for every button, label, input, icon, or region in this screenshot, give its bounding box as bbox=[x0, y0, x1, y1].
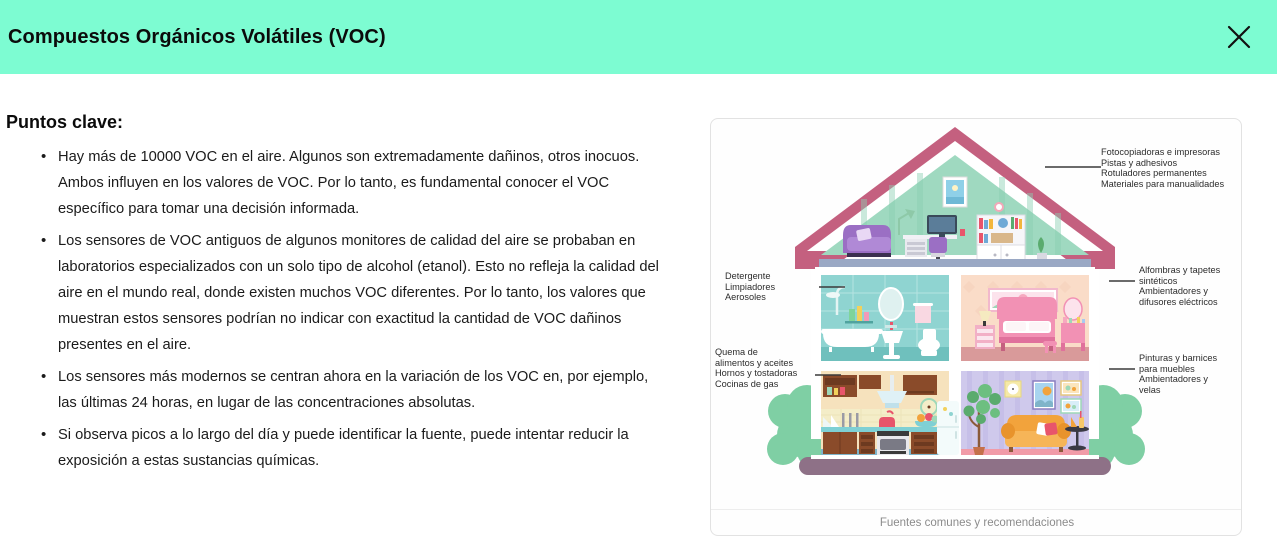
annotation-attic: Fotocopiadoras e impresoras Pistas y adh… bbox=[1101, 147, 1224, 189]
key-points-heading: Puntos clave: bbox=[6, 112, 123, 133]
illustration-caption: Fuentes comunes y recomendaciones bbox=[711, 509, 1242, 535]
list-item: Los sensores de VOC antiguos de algunos … bbox=[58, 228, 670, 358]
key-points-section: Puntos clave: Hay más de 10000 VOC en el… bbox=[0, 74, 690, 546]
modal-header: Compuestos Orgánicos Volátiles (VOC) bbox=[0, 0, 1277, 74]
page-title: Compuestos Orgánicos Volátiles (VOC) bbox=[8, 26, 386, 49]
list-item: Si observa picos a lo largo del día y pu… bbox=[58, 422, 670, 474]
annotation-bedroom: Alfombras y tapetes sintéticos Ambientad… bbox=[1139, 265, 1220, 307]
annotation-kitchen: Quema de alimentos y aceites Hornos y to… bbox=[715, 347, 797, 389]
annotation-living-room: Pinturas y barnices para muebles Ambient… bbox=[1139, 353, 1217, 395]
illustration-card: Fotocopiadoras e impresoras Pistas y adh… bbox=[710, 118, 1242, 536]
key-points-list: Hay más de 10000 VOC en el aire. Algunos… bbox=[30, 144, 670, 480]
close-button[interactable] bbox=[1213, 11, 1265, 63]
modal-body: Puntos clave: Hay más de 10000 VOC en el… bbox=[0, 74, 1277, 546]
close-x-icon bbox=[1226, 24, 1252, 50]
list-item: Hay más de 10000 VOC en el aire. Algunos… bbox=[58, 144, 670, 222]
annotation-bathroom: Detergente Limpiadores Aerosoles bbox=[725, 271, 775, 303]
list-item: Los sensores más modernos se centran aho… bbox=[58, 364, 670, 416]
